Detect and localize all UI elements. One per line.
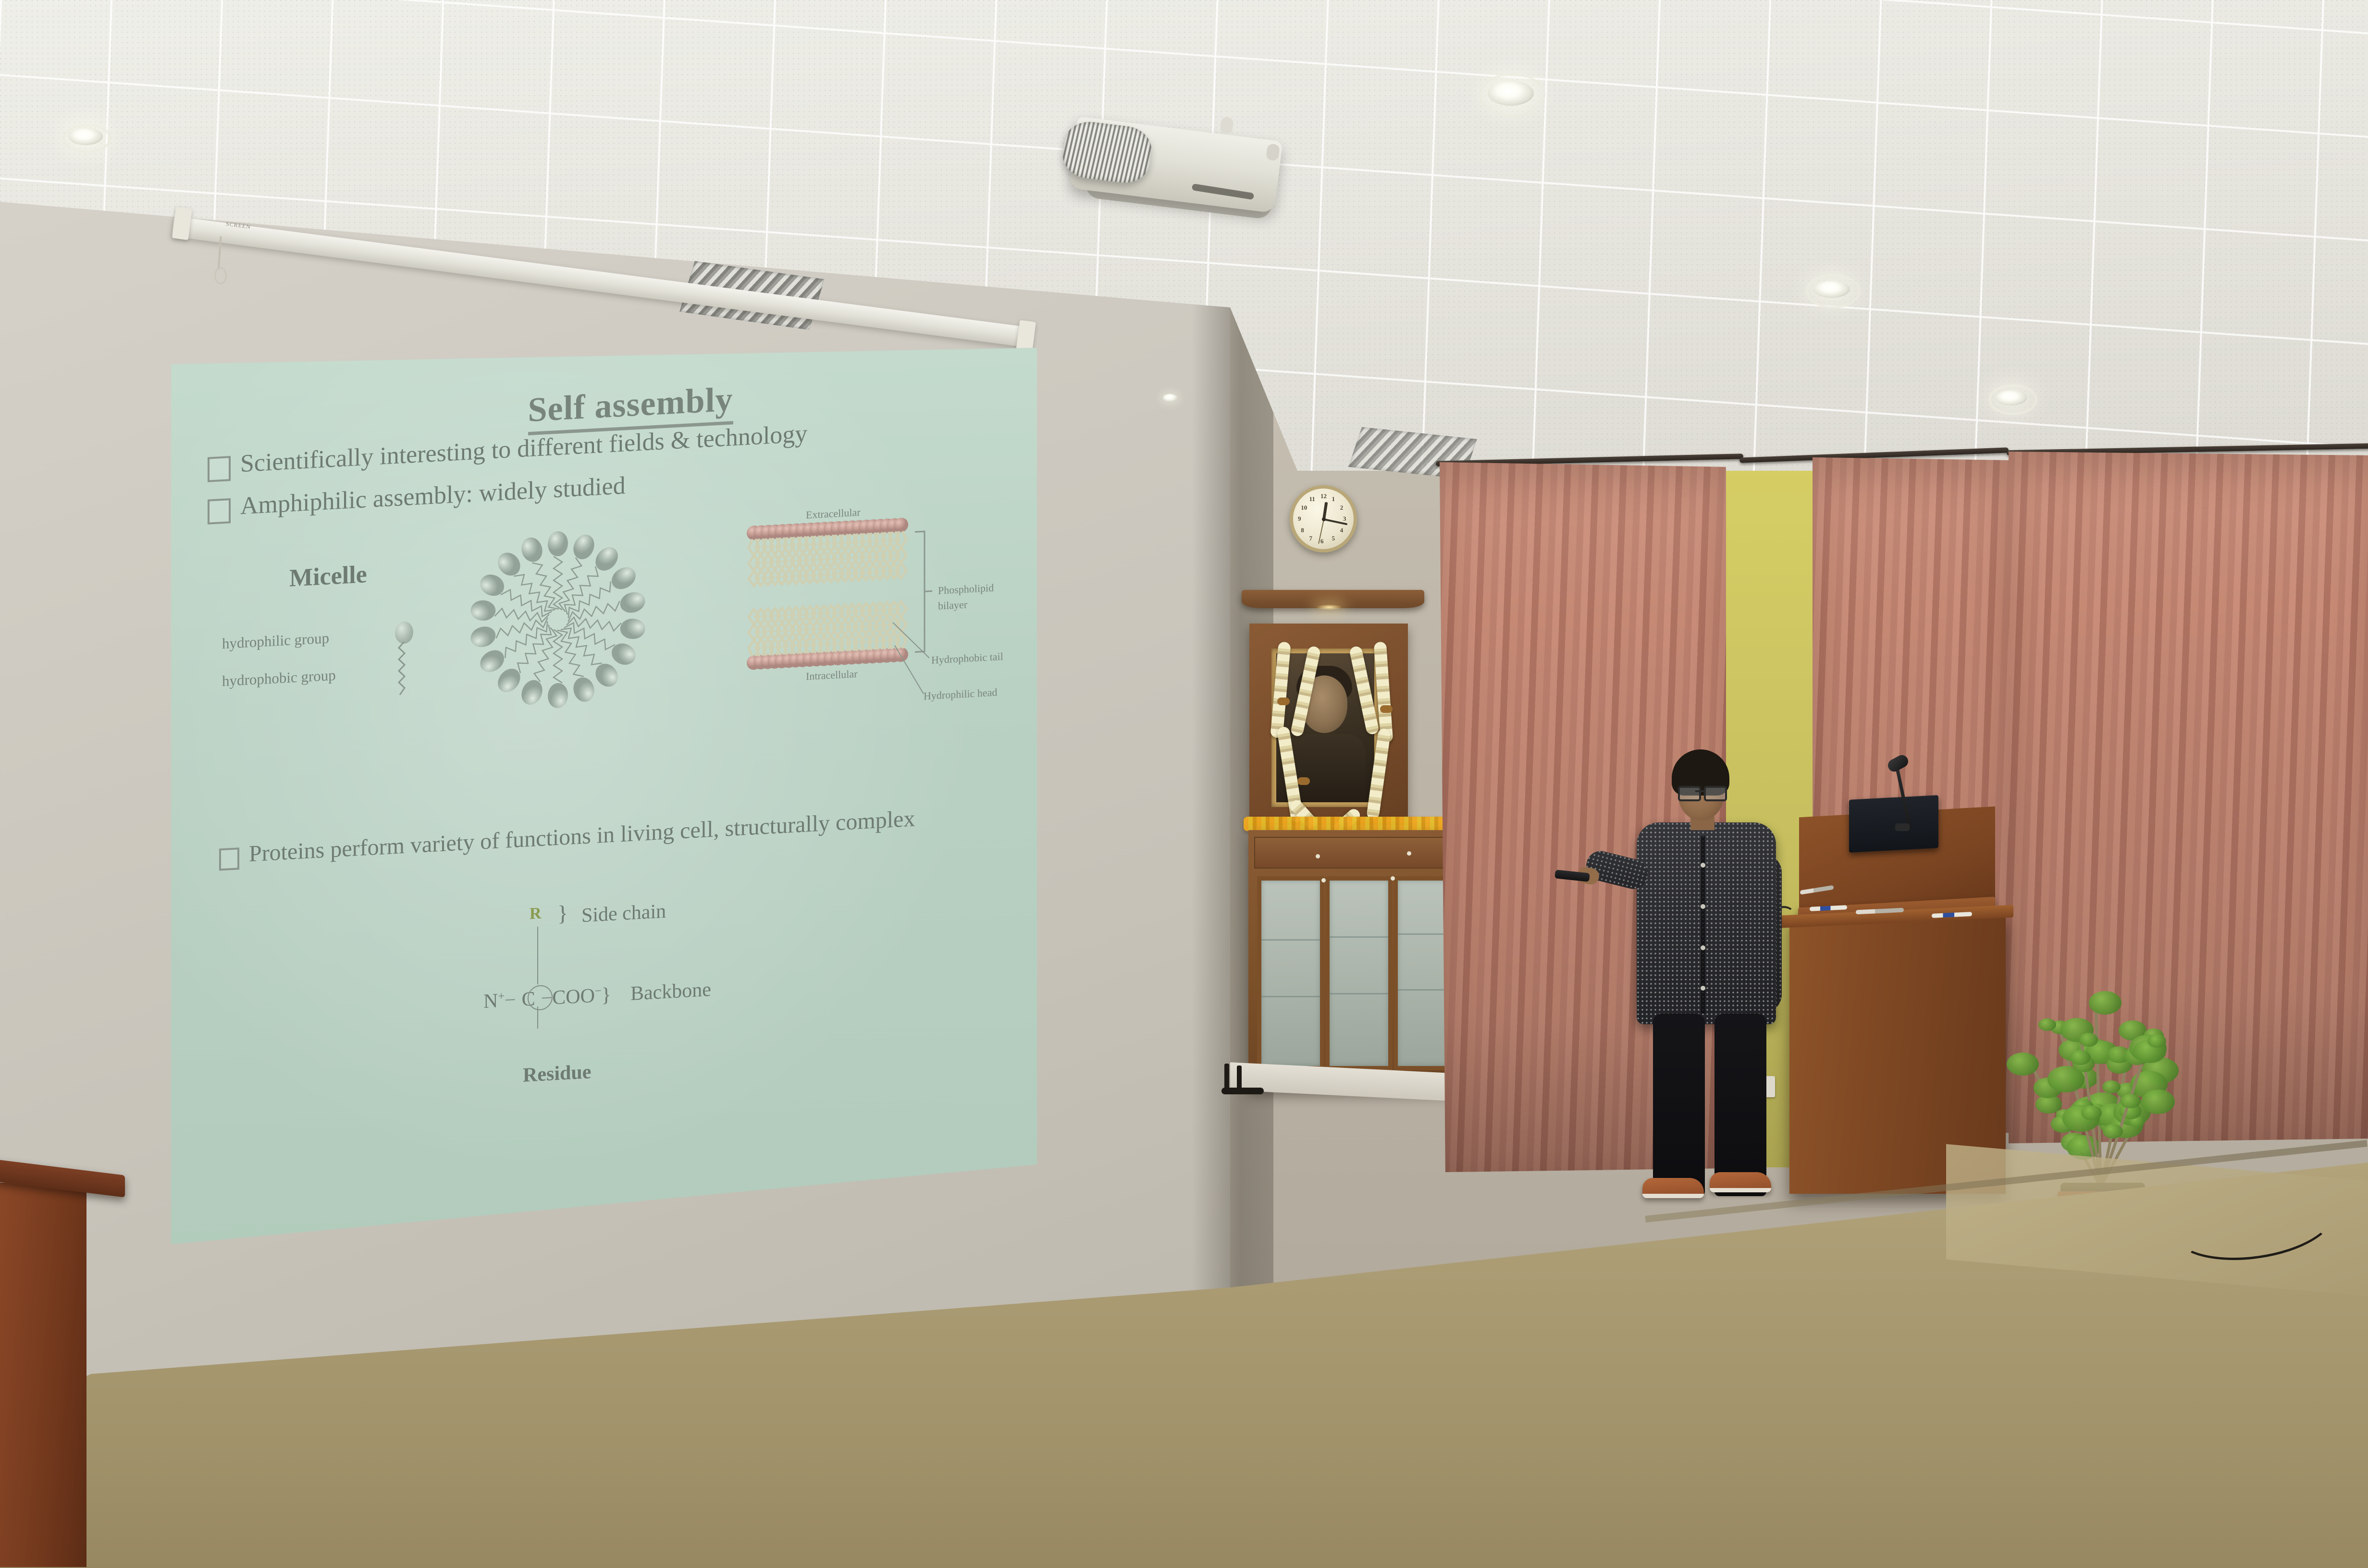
plant-leaf-cluster <box>2081 1105 2102 1120</box>
glasses-bridge-icon <box>1695 790 1704 792</box>
shirt-button <box>1701 986 1705 991</box>
side-chain-brace: } <box>557 900 568 926</box>
cabinet-door-knob[interactable] <box>1321 878 1326 882</box>
plant-leaf-cluster <box>2007 1053 2039 1076</box>
clock-numeral: 12 <box>1320 492 1327 500</box>
side-chain-bond-line <box>537 927 538 984</box>
clock-numeral: 9 <box>1298 515 1301 523</box>
cabinet-knob[interactable] <box>1407 851 1411 856</box>
plant-leaf-cluster <box>2079 1033 2098 1047</box>
clock-center-pin <box>1322 517 1326 521</box>
plant-leaf-cluster <box>2147 1034 2166 1048</box>
shirt-button <box>1701 945 1705 950</box>
bilayer-bracket-label-line2: bilayer <box>938 598 967 612</box>
downlight-icon <box>1163 394 1177 402</box>
downlight-icon <box>1813 281 1850 298</box>
plant-leaf-cluster <box>2120 1094 2141 1109</box>
presenter-leg-left <box>1653 1014 1705 1196</box>
side-chain-label: Side chain <box>581 900 666 927</box>
clock-numeral: 4 <box>1340 527 1344 534</box>
plant-leaf-cluster <box>2089 991 2121 1015</box>
presenter-torso <box>1637 822 1776 1024</box>
cabinet-door-left[interactable] <box>1257 876 1324 1070</box>
slide-bullet-2-text: Amphiphilic assembly: widely studied <box>240 472 626 519</box>
cabinet-door-center[interactable] <box>1325 876 1393 1070</box>
garland-bead <box>1277 698 1290 705</box>
glasses-lens-left-icon <box>1678 786 1701 801</box>
backbone-label: Backbone <box>630 978 711 1005</box>
shirt-button <box>1701 904 1705 909</box>
clock-numeral: 5 <box>1332 535 1335 542</box>
slide-title: Self assembly <box>506 378 755 431</box>
hydrophobic-group-label: hydrophobic group <box>222 667 336 690</box>
cabinet-knob[interactable] <box>1316 854 1320 858</box>
display-cabinet[interactable] <box>1248 830 1460 1090</box>
stand-foot <box>1221 1064 1265 1097</box>
clock-numeral: 11 <box>1309 495 1315 503</box>
slide-bullet-3: Proteins perform variety of functions in… <box>219 807 915 870</box>
lecture-hall-scene: SCREEN Self assembly Scientifically inte… <box>0 0 2368 1568</box>
clock-hour-hand <box>1322 502 1328 519</box>
clock-numeral: 2 <box>1340 504 1344 512</box>
plant-leaf-cluster <box>2103 1124 2123 1139</box>
downlight-icon <box>1995 390 2027 405</box>
glasses-lens-right-icon <box>1704 786 1727 801</box>
shirt-button <box>1701 863 1705 868</box>
hydrophilic-group-label: hydrophilic group <box>222 629 329 652</box>
backbone-N: N <box>483 990 498 1013</box>
backbone-brace: } <box>602 984 611 1006</box>
slide-bullet-3-text: Proteins perform variety of functions in… <box>249 807 915 867</box>
amino-acid-diagram: R } Side chain N+−C−COO−} Backbone Resid… <box>477 894 727 1033</box>
clock-numeral: 1 <box>1332 495 1335 503</box>
presenter-shoe-left <box>1642 1178 1704 1198</box>
clock-numeral: 7 <box>1309 535 1313 542</box>
backbone-N-charge: + <box>498 990 505 1003</box>
checkbox-bullet-icon <box>208 456 231 482</box>
wall-clock: 121234567891011 <box>1290 485 1357 552</box>
cabinet-door-knob[interactable] <box>1391 876 1395 881</box>
micelle-diagram <box>466 523 650 716</box>
downlight-icon <box>1488 81 1534 106</box>
clock-numeral: 3 <box>1343 515 1346 523</box>
backbone-COO: COO <box>552 985 595 1009</box>
clock-numeral: 8 <box>1301 527 1304 534</box>
presenter-leg-right <box>1714 1014 1766 1196</box>
canopy-spot-light-icon <box>1317 604 1342 610</box>
plant-leaf-cluster <box>2070 1050 2090 1065</box>
cabinet-drawer[interactable] <box>1254 837 1453 869</box>
slide-bullet-2: Amphiphilic assembly: widely studied <box>208 472 626 524</box>
garland-bead <box>1297 777 1310 785</box>
amphiphile-head-icon <box>395 621 413 644</box>
screen-pull-ring[interactable] <box>214 267 227 284</box>
plant-leaf-cluster <box>2102 1080 2120 1093</box>
presenter-shoe-right <box>1710 1172 1771 1192</box>
side-table-body <box>0 1183 86 1567</box>
clock-numeral: 10 <box>1301 504 1307 512</box>
side-chain-symbol: R <box>530 905 542 923</box>
checkbox-bullet-icon <box>208 498 231 525</box>
checkbox-bullet-icon <box>219 847 239 870</box>
projected-slide: Self assembly Scientifically interesting… <box>169 348 1039 1246</box>
marigold-flower-row <box>1244 817 1450 831</box>
microphone-base <box>1895 823 1910 831</box>
micelle-heading: Micelle <box>289 560 367 593</box>
laptop-screen[interactable] <box>1849 795 1938 853</box>
residue-label: Residue <box>523 1060 591 1087</box>
slide-content: Self assembly Scientifically interesting… <box>169 302 1039 1246</box>
amphiphile-tail-icon <box>394 641 415 700</box>
backbone-COO-charge: − <box>595 985 602 998</box>
plant-leaf-cluster <box>2141 1090 2175 1114</box>
clock-numeral: 6 <box>1320 538 1324 545</box>
plant-leaf-cluster <box>2038 1018 2056 1031</box>
garland-bead <box>1380 705 1393 713</box>
downlight-icon <box>68 128 103 145</box>
